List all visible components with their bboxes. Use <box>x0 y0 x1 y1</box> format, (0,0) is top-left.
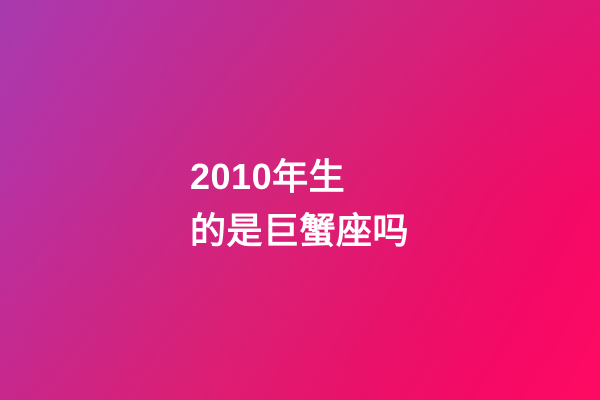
poster-canvas: 2010年生 的是巨蟹座吗 <box>0 0 600 400</box>
title-block: 2010年生 的是巨蟹座吗 <box>190 150 409 258</box>
title-line-1: 2010年生 <box>190 150 409 204</box>
title-line-2: 的是巨蟹座吗 <box>190 204 409 258</box>
